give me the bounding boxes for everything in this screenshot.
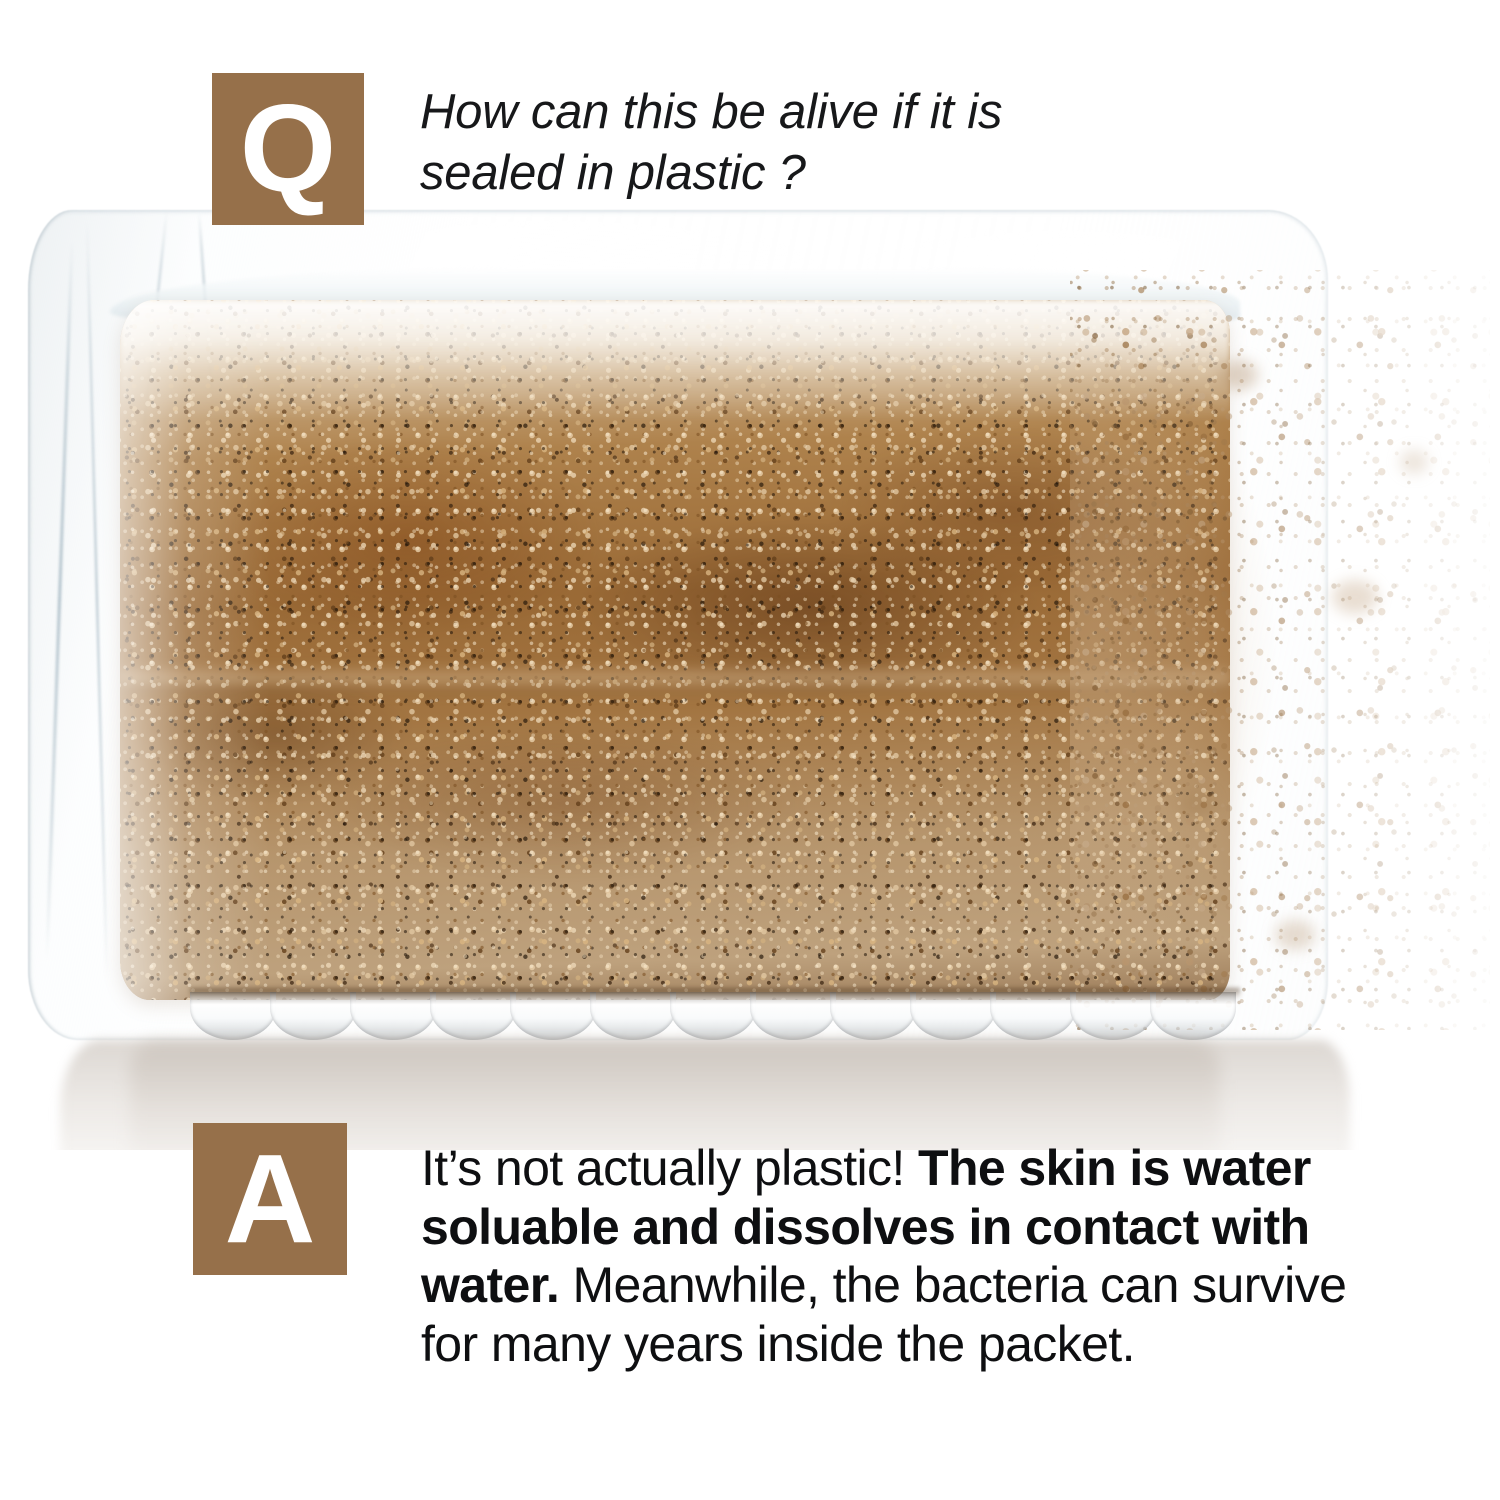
dispersion-blur-blob (1220, 360, 1258, 390)
seal-scallop (670, 992, 756, 1040)
seal-scallop (830, 992, 916, 1040)
seal-scallop (190, 992, 276, 1040)
question-text: How can this be alive if it issealed in … (420, 82, 1320, 205)
seal-scallop (510, 992, 596, 1040)
seal-scallop (590, 992, 676, 1040)
packet-horizontal-crease (120, 664, 1230, 698)
dispersion-blur-blob (1332, 580, 1378, 614)
product-photo (0, 150, 1500, 1150)
seal-scallop (1070, 992, 1156, 1040)
answer-badge: A (193, 1123, 347, 1275)
seal-scallop (430, 992, 516, 1040)
dispersion-fine-specks (1070, 270, 1490, 1030)
dispersion-blur-blob (1275, 920, 1315, 950)
dissolving-particle-cloud (1070, 270, 1490, 1030)
packet-bottom-seal (190, 988, 1240, 1048)
dispersion-blur-blob (1400, 450, 1428, 474)
packet-left-highlight (120, 300, 270, 1000)
seal-scallop (910, 992, 996, 1040)
question-badge: Q (212, 73, 364, 225)
packet-body (120, 300, 1230, 1000)
seal-scallop (990, 992, 1076, 1040)
seal-scallop (270, 992, 356, 1040)
answer-emphasis: The skin is water soluable and dissolves… (421, 1140, 1311, 1313)
poster-root: Q How can this be alive if it issealed i… (0, 0, 1500, 1500)
seal-scallop (1150, 992, 1236, 1040)
answer-text: It’s not actually plastic! The skin is w… (421, 1139, 1356, 1373)
dispersion-blur-blob (1180, 790, 1214, 818)
packet-headspace (120, 300, 1230, 420)
seal-scallop (350, 992, 436, 1040)
seal-scallop (750, 992, 836, 1040)
